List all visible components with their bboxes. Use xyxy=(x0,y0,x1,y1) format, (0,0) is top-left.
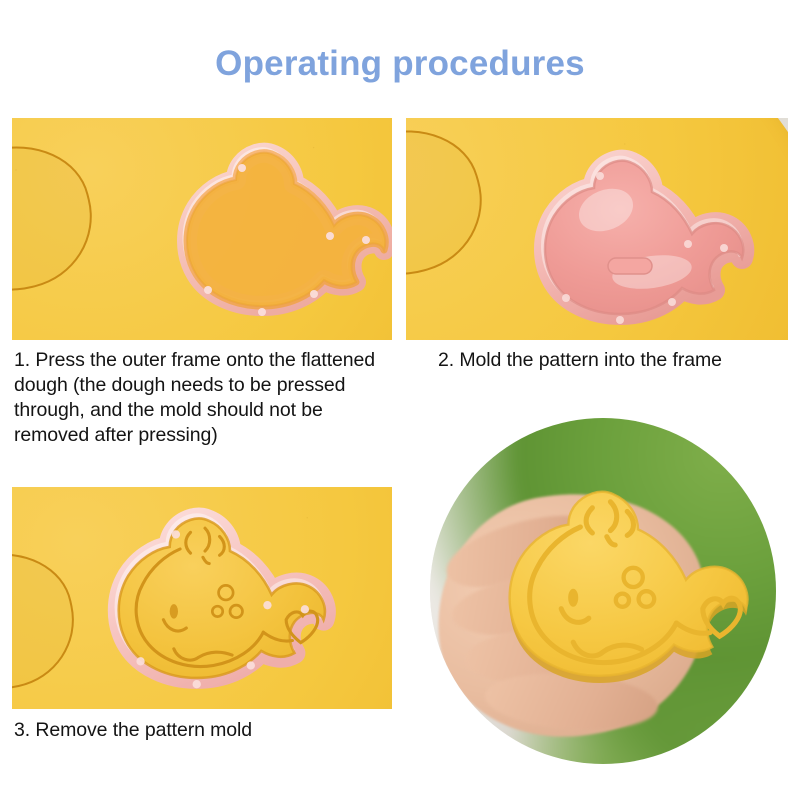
page-title: Operating procedures xyxy=(0,44,800,84)
cookie-eye xyxy=(568,589,578,607)
stamp-grip-nub xyxy=(608,258,652,274)
step-3-caption: 3. Remove the pattern mold xyxy=(14,718,392,743)
step-1-photo xyxy=(12,118,392,340)
whale-outer-frame-cutter xyxy=(144,132,392,332)
finished-cookie-photo xyxy=(430,418,776,764)
whale-pattern-stamp-in-frame xyxy=(502,140,752,340)
step-3-photo xyxy=(12,487,392,709)
step-1-caption: 1. Press the outer frame onto the flatte… xyxy=(14,348,392,448)
whale-eye xyxy=(170,604,178,619)
finished-whale-cookie xyxy=(458,454,758,720)
step-2-caption: 2. Mold the pattern into the frame xyxy=(438,348,788,373)
embossed-whale-pattern xyxy=(74,495,334,707)
step-2-photo xyxy=(406,118,788,340)
